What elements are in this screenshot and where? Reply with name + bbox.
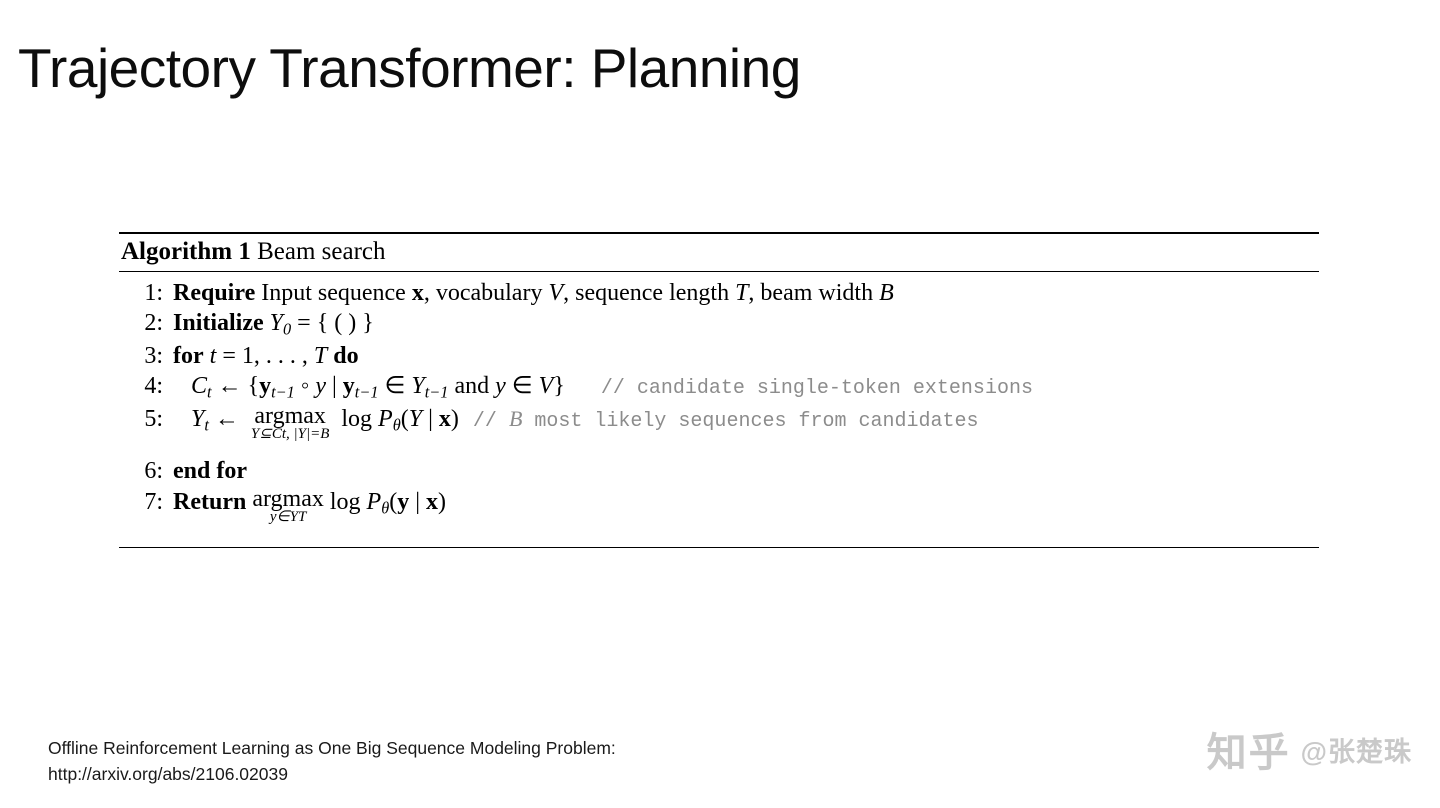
symbol-x-vector-2: x — [439, 406, 451, 432]
line-number: 3: — [119, 341, 173, 372]
zhihu-logo: 知乎 — [1207, 720, 1291, 778]
symbol-candidate-set: C — [191, 373, 207, 399]
subscript-t-minus-1b: t−1 — [355, 383, 379, 402]
line-content: Require Input sequence x, vocabulary V, … — [173, 278, 1319, 309]
algorithm-body: 1: Require Input sequence x, vocabulary … — [119, 272, 1319, 547]
algorithm-line: 2: Initialize Y0 = { ( ) } — [119, 308, 1319, 340]
algorithm-line: 7: Return argmaxy∈YT log Pθ(y | x) — [119, 487, 1319, 539]
line-number: 7: — [119, 487, 173, 518]
symbol-y-2: y — [495, 373, 506, 399]
symbol-Y: Y — [270, 310, 283, 336]
symbol-Y-t: Y — [191, 406, 204, 432]
comma-3: , — [748, 280, 754, 306]
symbol-y-vector-2: y — [343, 373, 355, 399]
subscript-t-minus-1: t−1 — [271, 383, 295, 402]
comment-text: most likely sequences from candidates — [534, 410, 978, 433]
arrow-assign: ← — [218, 373, 242, 399]
empty-set-assignment: = { ( ) } — [297, 310, 374, 336]
paren-open: ( — [401, 406, 409, 432]
algorithm-line: 5: Yt ← argmaxY⊆Ct, |Y|=B log Pθ(Y | x)/… — [119, 404, 1319, 456]
symbol-P-2: P — [367, 489, 382, 515]
symbol-T-range: T — [314, 343, 327, 369]
symbol-vocabulary-2: V — [539, 373, 554, 399]
symbol-in-1: ∈ — [384, 373, 405, 399]
algorithm-line: 4: Ct ← {yt−1 ◦ y | yt−1 ∈ Yt−1 and y ∈ … — [119, 371, 1319, 403]
algorithm-line: 1: Require Input sequence x, vocabulary … — [119, 278, 1319, 309]
symbol-Y-prev: Y — [411, 373, 424, 399]
line-number: 5: — [119, 404, 173, 435]
line-content: Ct ← {yt−1 ◦ y | yt−1 ∈ Yt−1 and y ∈ V} … — [173, 371, 1319, 403]
line-content: Return argmaxy∈YT log Pθ(y | x) — [173, 487, 1319, 526]
text-beam-width: beam width — [760, 280, 873, 306]
symbol-T: T — [735, 280, 748, 306]
keyword-initialize: Initialize — [173, 310, 264, 336]
algorithm-line: 3: for t = 1, . . . , T do — [119, 341, 1319, 372]
pipe-3: | — [415, 489, 420, 515]
line-number: 6: — [119, 456, 173, 487]
subscript-t: t — [207, 383, 212, 402]
footer-title: Offline Reinforcement Learning as One Bi… — [48, 735, 616, 762]
keyword-require: Require — [173, 280, 255, 306]
subscript-zero: 0 — [283, 320, 291, 339]
brace-close: } — [553, 373, 565, 399]
symbol-P: P — [378, 406, 393, 432]
argmax-operator-2: argmaxy∈YT — [252, 487, 324, 526]
keyword-do: do — [333, 343, 358, 369]
symbol-circ: ◦ — [301, 373, 310, 399]
algorithm-block: Algorithm 1 Beam search 1: Require Input… — [119, 232, 1319, 548]
text-input-sequence: Input sequence — [261, 280, 406, 306]
watermark: 知乎 @张楚珠 — [1207, 720, 1412, 778]
symbol-t: t — [210, 343, 217, 369]
pipe-1: | — [332, 373, 337, 399]
paren-close-2: ) — [438, 489, 446, 515]
comma-1: , — [424, 280, 430, 306]
algorithm-label: Algorithm 1 — [121, 238, 251, 265]
line-number: 2: — [119, 308, 173, 339]
keyword-for: for — [173, 343, 204, 369]
argmax-operator: argmaxY⊆Ct, |Y|=B — [251, 404, 329, 443]
line-content: end for — [173, 456, 1319, 487]
line-number: 4: — [119, 371, 173, 402]
comment-slashes: // — [473, 410, 497, 433]
arrow-assign-2: ← — [215, 406, 239, 432]
range-expression: = 1, . . . , — [222, 343, 308, 369]
argmax-constraint: y∈YT — [270, 510, 306, 526]
text-sequence-length: sequence length — [575, 280, 729, 306]
symbol-vocabulary: V — [548, 280, 563, 306]
algorithm-name: Beam search — [257, 238, 385, 265]
line-content: Yt ← argmaxY⊆Ct, |Y|=B log Pθ(Y | x)// B… — [173, 404, 1319, 443]
symbol-Y-arg: Y — [409, 406, 422, 432]
slide: Trajectory Transformer: Planning Algorit… — [0, 0, 1440, 808]
symbol-y-vector: y — [259, 373, 271, 399]
comma-2: , — [563, 280, 569, 306]
symbol-y-vector-3: y — [397, 489, 409, 515]
pipe-2: | — [428, 406, 433, 432]
symbol-x-vector: x — [412, 280, 424, 306]
text-vocabulary: vocabulary — [436, 280, 543, 306]
symbol-x-vector-3: x — [426, 489, 438, 515]
log-operator: log — [341, 406, 372, 432]
subscript-t2: t — [204, 415, 209, 434]
line-content: Initialize Y0 = { ( ) } — [173, 308, 1319, 340]
argmax-label: argmax — [252, 487, 324, 512]
algorithm-header: Algorithm 1 Beam search — [119, 234, 1319, 271]
zhihu-username: @张楚珠 — [1301, 730, 1412, 769]
symbol-B: B — [879, 280, 894, 306]
subscript-theta: θ — [393, 415, 401, 434]
line-number: 1: — [119, 278, 173, 309]
argmax-constraint: Y⊆Ct, |Y|=B — [251, 427, 329, 443]
footer-citation: Offline Reinforcement Learning as One Bi… — [48, 735, 616, 788]
algorithm-bottom-rule — [119, 547, 1319, 548]
keyword-and: and — [454, 373, 489, 399]
keyword-return: Return — [173, 489, 246, 515]
algorithm-line: 6: end for — [119, 456, 1319, 487]
line-content: for t = 1, . . . , T do — [173, 341, 1319, 372]
footer-url[interactable]: http://arxiv.org/abs/2106.02039 — [48, 761, 616, 788]
log-operator-2: log — [330, 489, 361, 515]
page-title: Trajectory Transformer: Planning — [18, 36, 801, 100]
brace-open: { — [248, 373, 260, 399]
symbol-in-2: ∈ — [512, 373, 533, 399]
line-comment: // B most likely sequences from candidat… — [473, 410, 979, 433]
subscript-t-minus-1c: t−1 — [425, 383, 449, 402]
keyword-end-for: end for — [173, 458, 247, 484]
line-comment: // candidate single-token extensions — [601, 377, 1033, 400]
paren-close: ) — [451, 406, 459, 432]
symbol-y: y — [315, 373, 326, 399]
comment-symbol-B: B — [509, 406, 522, 431]
